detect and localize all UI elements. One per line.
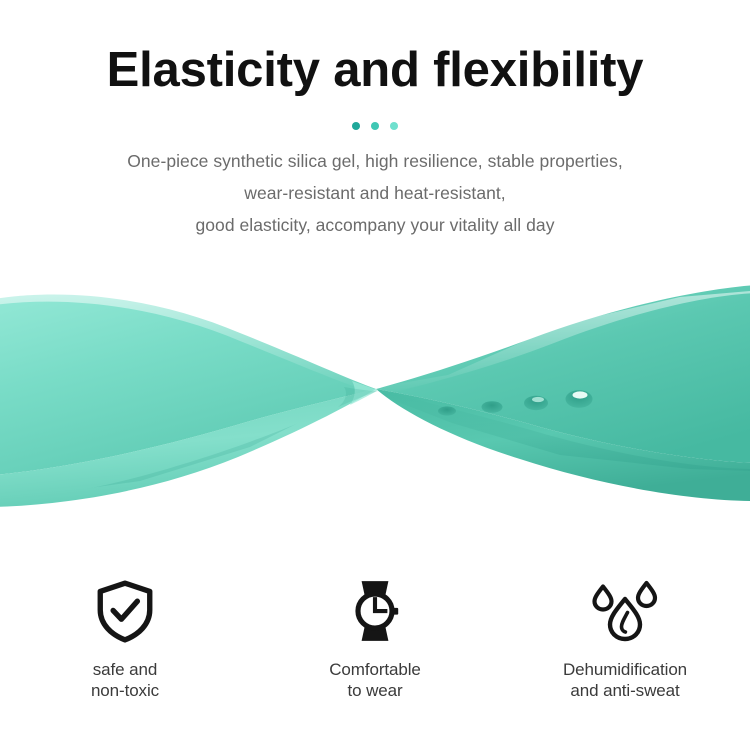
shield-check-icon: [92, 578, 158, 644]
feature-comfortable-to-wear: Comfortable to wear: [250, 578, 500, 701]
shield-check-icon-svg: [92, 578, 158, 644]
feature-label-dehumid-line-2: and anti-sweat: [563, 680, 687, 701]
divider-dot-1: [352, 122, 360, 130]
feature-label-comfort-line-2: to wear: [329, 680, 421, 701]
subtitle-line-3: good elasticity, accompany your vitality…: [0, 209, 750, 241]
feature-label-comfort-line-1: Comfortable: [329, 659, 421, 680]
band-hole-1: [438, 406, 456, 415]
band-hole-4-highlight: [573, 391, 588, 398]
dot-divider: [0, 122, 750, 130]
feature-row: safe and non-toxic: [0, 578, 750, 701]
product-feature-page: Elasticity and flexibility One-piece syn…: [0, 0, 750, 750]
divider-dot-3: [390, 122, 398, 130]
twisted-band-illustration: [0, 255, 750, 530]
feature-label-dehumid: Dehumidification and anti-sweat: [563, 659, 687, 701]
product-image: [0, 255, 750, 530]
subtitle-line-1: One-piece synthetic silica gel, high res…: [0, 145, 750, 177]
feature-safe-non-toxic: safe and non-toxic: [0, 578, 250, 701]
band-hole-3-highlight: [532, 397, 544, 402]
feature-label-safe-line-1: safe and: [91, 659, 159, 680]
water-droplets-icon: [589, 578, 661, 644]
feature-label-safe: safe and non-toxic: [91, 659, 159, 701]
page-subtitle: One-piece synthetic silica gel, high res…: [0, 145, 750, 241]
feature-label-safe-line-2: non-toxic: [91, 680, 159, 701]
feature-dehumidification: Dehumidification and anti-sweat: [500, 578, 750, 701]
divider-dot-2: [371, 122, 379, 130]
subtitle-line-2: wear-resistant and heat-resistant,: [0, 177, 750, 209]
wristwatch-icon: [342, 578, 408, 644]
page-title: Elasticity and flexibility: [0, 44, 750, 97]
band-hole-2: [482, 401, 503, 413]
water-droplets-icon-svg: [589, 578, 661, 644]
feature-label-comfort: Comfortable to wear: [329, 659, 421, 701]
feature-label-dehumid-line-1: Dehumidification: [563, 659, 687, 680]
wristwatch-icon-svg: [342, 578, 408, 644]
